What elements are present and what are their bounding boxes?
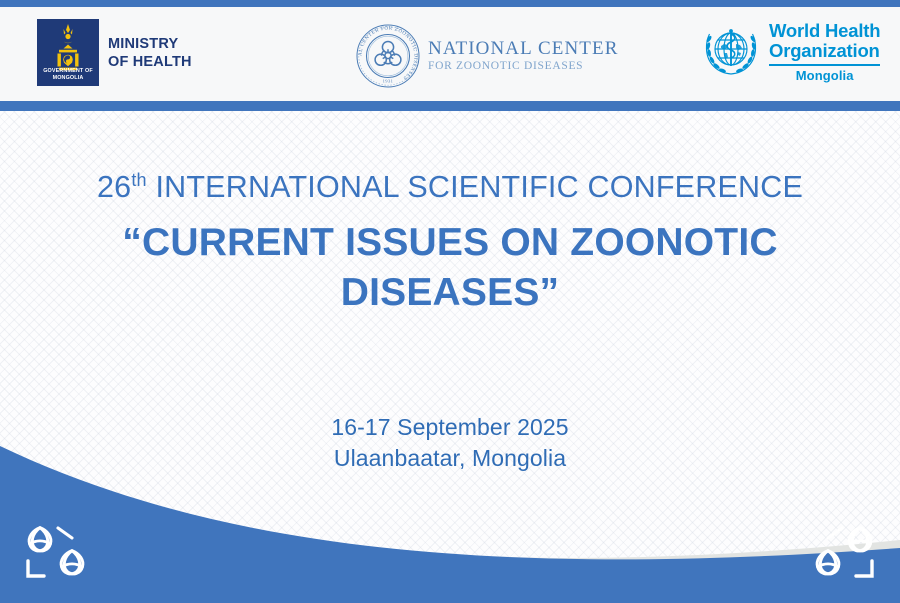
triquetra-knot-icon [798,516,886,588]
conference-title-slide: GOVERNMENT OF MONGOLIA MINISTRY OF HEALT… [0,0,900,603]
national-center-zoonotic-diseases-logo: NATIONAL CENTER FOR ZOONOTIC DISEASES 19… [352,20,618,92]
triquetra-knot-icon [14,516,102,588]
ministry-name-line2: OF HEALTH [108,53,192,71]
who-logo: World Health Organization Mongolia [700,21,880,82]
title-block: 26th INTERNATIONAL SCIENTIFIC CONFERENCE… [0,168,900,318]
ornament-left [14,516,102,593]
ministry-of-health-name: MINISTRY OF HEALTH [108,35,192,71]
who-emblem-icon [700,22,762,80]
svg-text:1931: 1931 [383,79,394,84]
conference-ordinal: th [131,170,146,190]
who-wordmark: World Health Organization Mongolia [769,21,880,82]
conference-theme-title: “CURRENT ISSUES ON ZOONOTIC DISEASES” [0,218,900,318]
header-accent-bar [0,101,900,111]
crest-label: GOVERNMENT OF MONGOLIA [37,68,99,82]
ornament-right [798,516,886,593]
conference-number-line: 26th INTERNATIONAL SCIENTIFIC CONFERENCE [0,168,900,206]
ministry-of-health-logo: GOVERNMENT OF MONGOLIA MINISTRY OF HEALT… [37,19,192,86]
who-country-label: Mongolia [769,69,880,82]
nczd-name: NATIONAL CENTER FOR ZOONOTIC DISEASES [428,39,618,73]
crest-label-line2: MONGOLIA [53,75,84,81]
nczd-name-line1: NATIONAL CENTER [428,39,618,58]
nczd-name-line2: FOR ZOONOTIC DISEASES [428,61,618,73]
crest-label-line1: GOVERNMENT OF [43,68,93,74]
nczd-seal-icon: NATIONAL CENTER FOR ZOONOTIC DISEASES 19… [352,20,424,92]
conference-suffix: INTERNATIONAL SCIENTIFIC CONFERENCE [147,170,803,204]
wave-blue-shape [0,446,900,603]
top-accent-bar [0,0,900,7]
soyombo-symbol-icon [37,19,99,75]
footer-wave-decoration [0,428,900,603]
ministry-name-line1: MINISTRY [108,35,192,53]
who-name-line1: World Health [769,21,880,41]
mongolia-government-crest: GOVERNMENT OF MONGOLIA [37,19,99,86]
who-name-line2: Organization [769,41,880,61]
conference-prefix: 26 [97,170,131,204]
who-divider [769,64,880,66]
